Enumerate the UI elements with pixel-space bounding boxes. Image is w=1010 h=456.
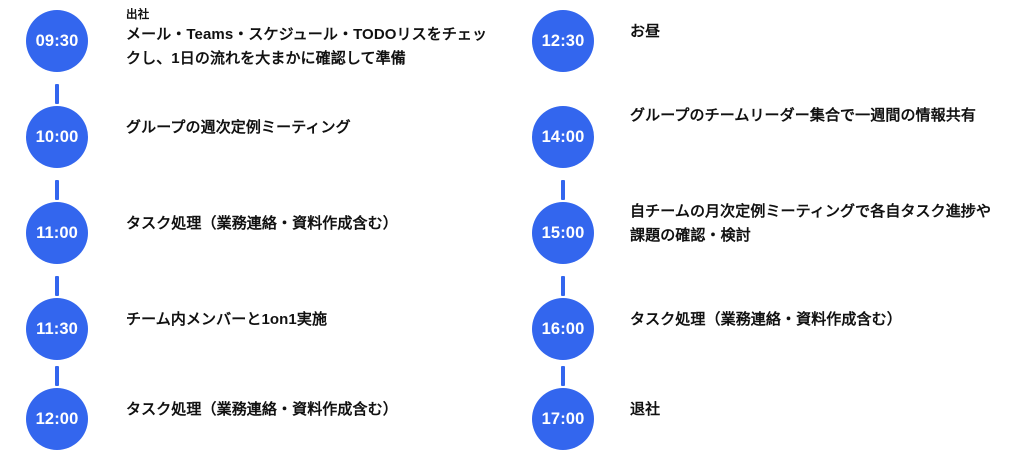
- entry-content: チーム内メンバーと1on1実施: [126, 308, 498, 332]
- time-badge[interactable]: 09:30: [26, 10, 88, 72]
- time-badge[interactable]: 11:30: [26, 298, 88, 360]
- timeline-column-afternoon: 12:30お昼14:00グループのチームリーダー集合で一週間の情報共有15:00…: [505, 0, 1010, 456]
- timeline-entry[interactable]: 14:00グループのチームリーダー集合で一週間の情報共有: [505, 106, 1010, 168]
- entry-content: タスク処理（業務連絡・資料作成含む）: [126, 398, 498, 422]
- timeline-connector: [55, 84, 59, 104]
- time-badge[interactable]: 10:00: [26, 106, 88, 168]
- entry-description: お昼: [630, 20, 1000, 44]
- time-badge[interactable]: 16:00: [532, 298, 594, 360]
- time-badge[interactable]: 14:00: [532, 106, 594, 168]
- time-badge[interactable]: 12:00: [26, 388, 88, 450]
- entry-description: タスク処理（業務連絡・資料作成含む）: [630, 308, 1000, 332]
- timeline-entry[interactable]: 11:00タスク処理（業務連絡・資料作成含む）: [0, 202, 505, 264]
- timeline-entry[interactable]: 16:00タスク処理（業務連絡・資料作成含む）: [505, 298, 1010, 360]
- entry-content: 出社メール・Teams・スケジュール・TODOリスをチェックし、1日の流れを大ま…: [126, 8, 498, 71]
- timeline-entry[interactable]: 12:00タスク処理（業務連絡・資料作成含む）: [0, 388, 505, 450]
- entry-description: 自チームの月次定例ミーティングで各自タスク進捗や課題の確認・検討: [630, 200, 1000, 248]
- entry-content: グループのチームリーダー集合で一週間の情報共有: [630, 104, 1000, 128]
- timeline-entry[interactable]: 15:00自チームの月次定例ミーティングで各自タスク進捗や課題の確認・検討: [505, 202, 1010, 264]
- time-badge[interactable]: 15:00: [532, 202, 594, 264]
- timeline-entry[interactable]: 17:00退社: [505, 388, 1010, 450]
- entry-description: グループの週次定例ミーティング: [126, 116, 498, 140]
- entry-description: チーム内メンバーと1on1実施: [126, 308, 498, 332]
- timeline-entry[interactable]: 11:30チーム内メンバーと1on1実施: [0, 298, 505, 360]
- entry-sub-label: 出社: [126, 8, 498, 23]
- entry-description: 退社: [630, 398, 1000, 422]
- timeline-column-morning: 09:30出社メール・Teams・スケジュール・TODOリスをチェックし、1日の…: [0, 0, 505, 456]
- timeline-connector: [561, 180, 565, 200]
- timeline-connector: [55, 180, 59, 200]
- entry-description: タスク処理（業務連絡・資料作成含む）: [126, 212, 498, 236]
- timeline-connector: [55, 366, 59, 386]
- entry-content: 自チームの月次定例ミーティングで各自タスク進捗や課題の確認・検討: [630, 200, 1000, 248]
- time-badge[interactable]: 11:00: [26, 202, 88, 264]
- timeline-entry[interactable]: 10:00グループの週次定例ミーティング: [0, 106, 505, 168]
- time-badge[interactable]: 17:00: [532, 388, 594, 450]
- timeline-connector: [55, 276, 59, 296]
- timeline-connector: [561, 276, 565, 296]
- daily-schedule-timeline: 09:30出社メール・Teams・スケジュール・TODOリスをチェックし、1日の…: [0, 0, 1010, 456]
- time-badge[interactable]: 12:30: [532, 10, 594, 72]
- entry-content: タスク処理（業務連絡・資料作成含む）: [630, 308, 1000, 332]
- entry-content: グループの週次定例ミーティング: [126, 116, 498, 140]
- entry-content: お昼: [630, 20, 1000, 44]
- entry-description: メール・Teams・スケジュール・TODOリスをチェックし、1日の流れを大まかに…: [126, 23, 498, 71]
- entry-content: タスク処理（業務連絡・資料作成含む）: [126, 212, 498, 236]
- entry-content: 退社: [630, 398, 1000, 422]
- timeline-connector: [561, 366, 565, 386]
- timeline-entry[interactable]: 12:30お昼: [505, 10, 1010, 72]
- entry-description: グループのチームリーダー集合で一週間の情報共有: [630, 104, 1000, 128]
- timeline-entry[interactable]: 09:30出社メール・Teams・スケジュール・TODOリスをチェックし、1日の…: [0, 10, 505, 72]
- entry-description: タスク処理（業務連絡・資料作成含む）: [126, 398, 498, 422]
